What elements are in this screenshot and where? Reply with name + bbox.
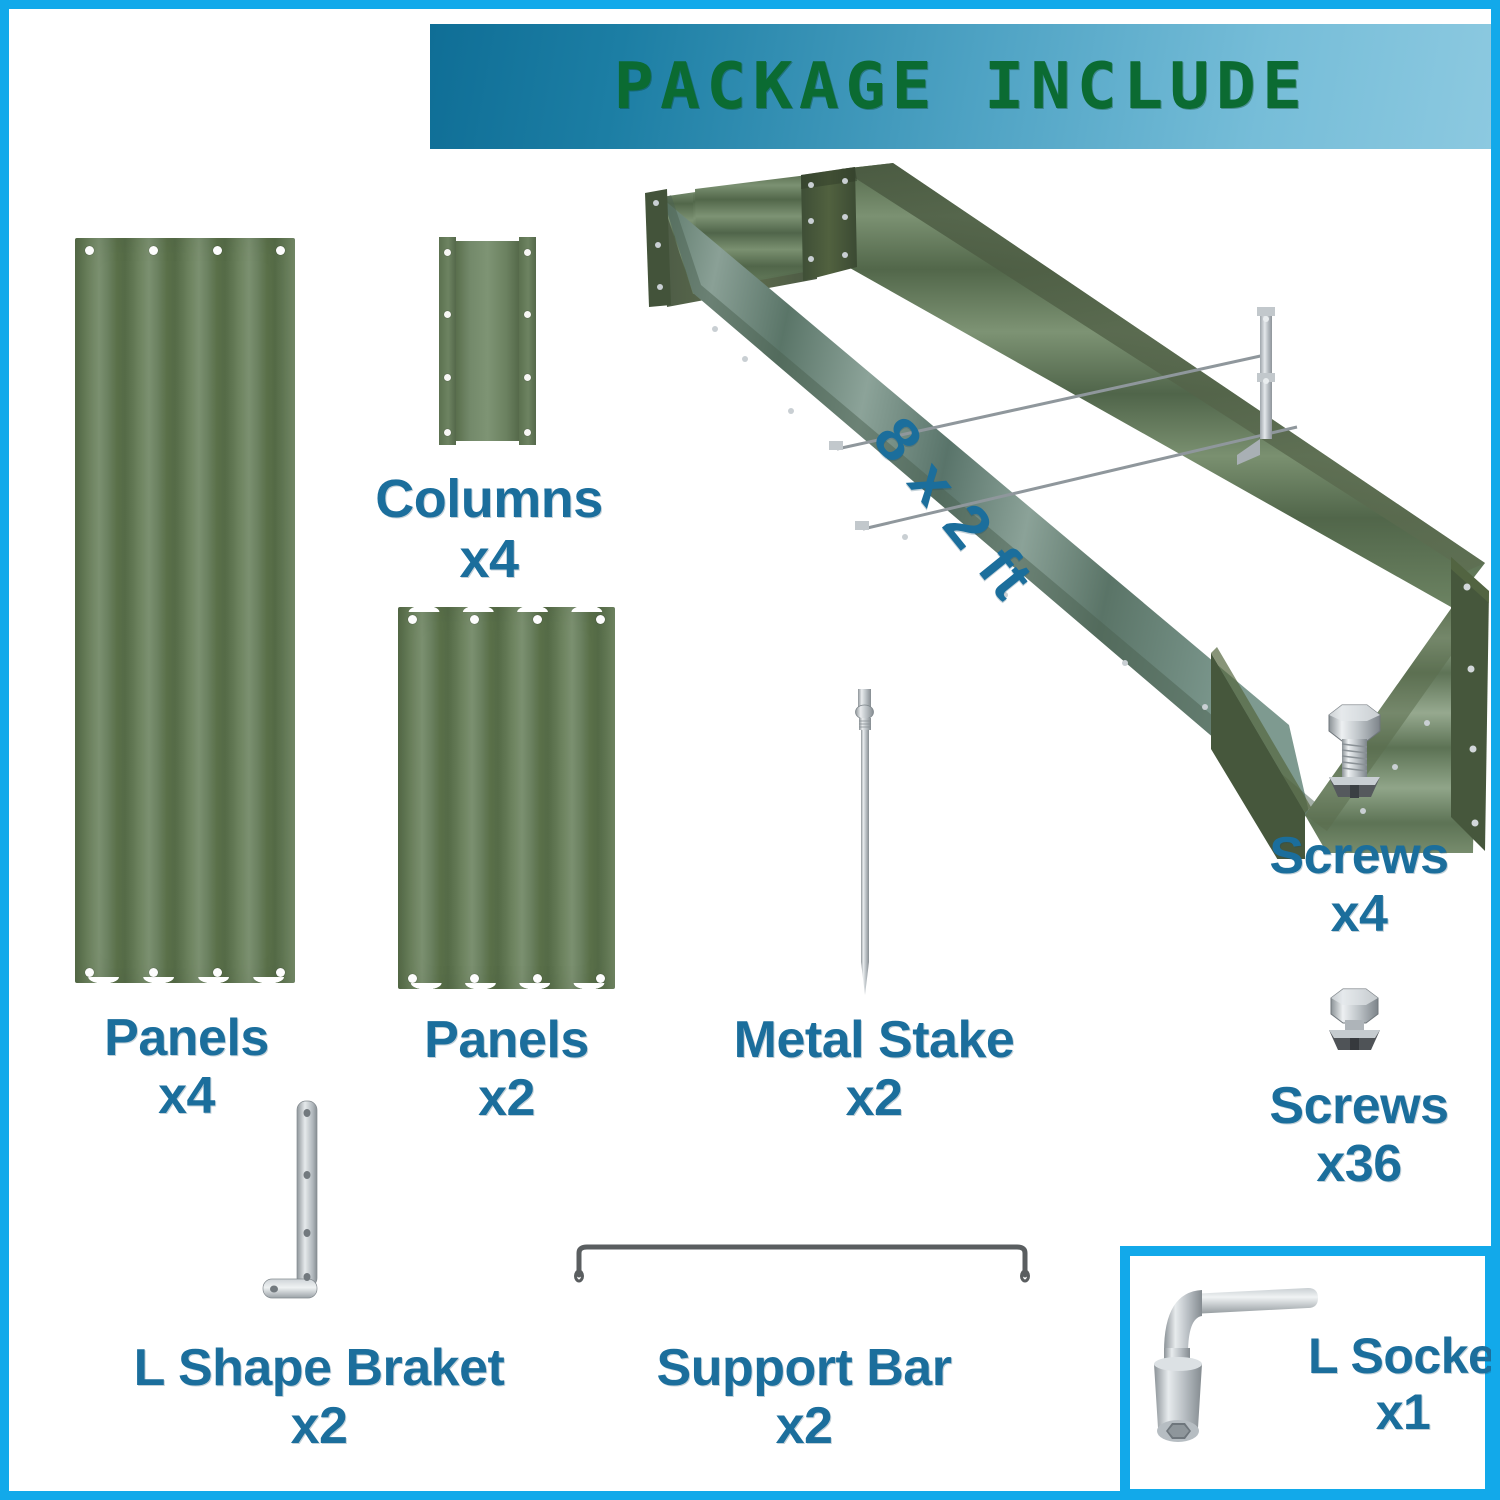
- label-columns: Columns x4: [344, 469, 634, 590]
- label-support-bar-name: Support Bar: [569, 1339, 1039, 1397]
- label-l-bracket: L Shape Braket x2: [74, 1339, 564, 1455]
- corrugated-panel-short-icon: [398, 607, 615, 989]
- label-metal-stake: Metal Stake x2: [709, 1011, 1039, 1127]
- corrugated-panel-tall-icon: [75, 238, 295, 983]
- label-columns-name: Columns: [344, 469, 634, 529]
- l-socket-highlight-box: L Socket x1: [1120, 1246, 1495, 1499]
- package-include-infographic: PACKAGE INCLUDE Panels x4 Columns x4: [0, 0, 1500, 1500]
- banner-title: PACKAGE INCLUDE: [613, 50, 1308, 124]
- l-shape-bracket-icon: [257, 1097, 353, 1313]
- support-bar-icon: [567, 1239, 1037, 1285]
- u-channel-column-icon: [439, 237, 536, 445]
- package-include-banner: PACKAGE INCLUDE: [430, 24, 1491, 149]
- label-metal-stake-qty: x2: [709, 1069, 1039, 1127]
- label-l-socket: L Socket x1: [1308, 1328, 1498, 1440]
- label-columns-qty: x4: [344, 529, 634, 589]
- hex-screw-short-icon: [1309, 984, 1399, 1064]
- label-screws-36: Screws x36: [1234, 1077, 1484, 1193]
- hex-bolt-long-icon: [1309, 699, 1399, 814]
- label-panels-small-name: Panels: [364, 1011, 649, 1069]
- label-l-bracket-qty: x2: [74, 1397, 564, 1455]
- label-support-bar: Support Bar x2: [569, 1339, 1039, 1455]
- label-panels-small-qty: x2: [364, 1069, 649, 1127]
- label-l-bracket-name: L Shape Braket: [74, 1339, 564, 1397]
- label-l-socket-qty: x1: [1308, 1384, 1498, 1440]
- label-support-bar-qty: x2: [569, 1397, 1039, 1455]
- label-screws-36-name: Screws: [1234, 1077, 1484, 1135]
- label-l-socket-name: L Socket: [1308, 1328, 1498, 1384]
- label-screws-36-qty: x36: [1234, 1135, 1484, 1193]
- label-panels-small: Panels x2: [364, 1011, 649, 1127]
- label-screws-4-name: Screws: [1234, 827, 1484, 885]
- label-panels-large-name: Panels: [34, 1009, 339, 1067]
- label-metal-stake-name: Metal Stake: [709, 1011, 1039, 1069]
- l-socket-wrench-icon: [1140, 1268, 1325, 1483]
- label-screws-4: Screws x4: [1234, 827, 1484, 943]
- metal-stake-icon: [847, 687, 883, 997]
- label-screws-4-qty: x4: [1234, 885, 1484, 943]
